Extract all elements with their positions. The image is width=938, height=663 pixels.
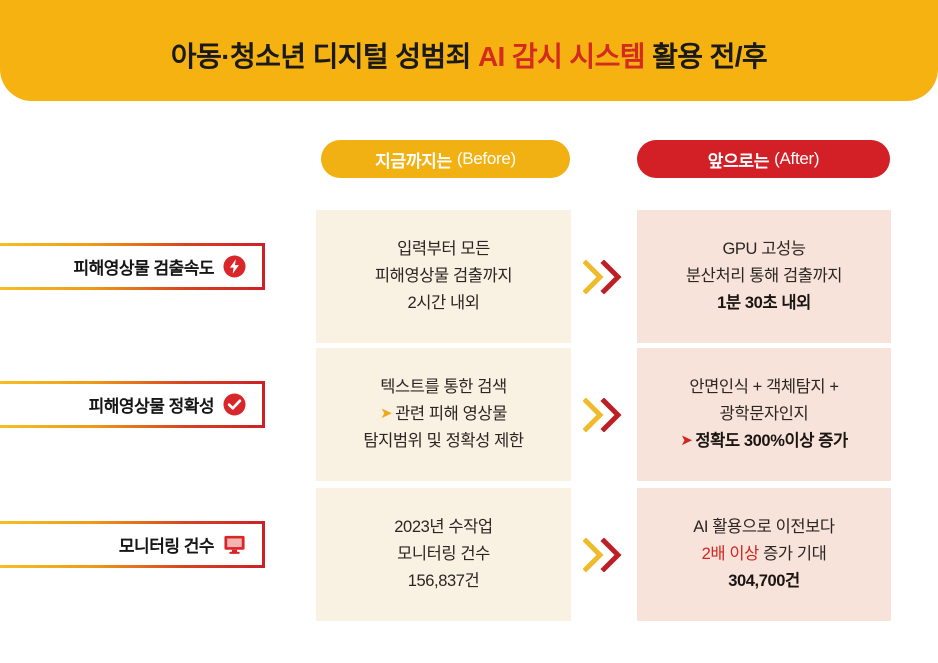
cell-line: 안면인식 + 객체탐지 + <box>689 374 838 401</box>
cell-before: 텍스트를 통한 검색 ➤관련 피해 영상물 탐지범위 및 정확성 제한 <box>316 348 571 481</box>
column-header-after-light: (After) <box>774 149 819 169</box>
cell-line: 텍스트를 통한 검색 <box>380 374 507 401</box>
cell-line: 탐지범위 및 정확성 제한 <box>363 428 523 455</box>
comparison-row: 피해영상물 검출속도 입력부터 모든 피해영상물 검출까지 2시간 내외 GPU… <box>0 210 938 343</box>
column-header-before-strong: 지금까지는 <box>375 147 452 172</box>
cell-line: 156,837건 <box>408 568 480 595</box>
cell-line-highlight: 1분 30초 내외 <box>717 290 811 317</box>
lightning-bolt-icon <box>223 255 246 278</box>
column-header-before-light: (Before) <box>457 149 516 169</box>
cell-before: 입력부터 모든 피해영상물 검출까지 2시간 내외 <box>316 210 571 343</box>
column-header-before: 지금까지는 (Before) <box>321 140 570 178</box>
cell-line-highlight: ➤정확도 300%이상 증가 <box>680 428 848 455</box>
cell-line-rest: 증가 기대 <box>759 545 827 563</box>
comparison-row: 모니터링 건수 2023년 수작업 모니터링 건수 156,837건 AI 활용… <box>0 488 938 621</box>
cell-before: 2023년 수작업 모니터링 건수 156,837건 <box>316 488 571 621</box>
cell-line-emphasis: 2배 이상 <box>702 545 759 563</box>
row-label-accuracy: 피해영상물 정확성 <box>0 381 265 428</box>
cell-line: GPU 고성능 <box>722 236 805 263</box>
chevron-divider <box>583 538 627 572</box>
page-title-accent: AI 감시 시스템 <box>478 41 645 72</box>
cell-line: 모니터링 건수 <box>397 541 490 568</box>
column-header-after: 앞으로는 (After) <box>637 140 890 178</box>
cell-line: 분산처리 통해 검출까지 <box>686 263 842 290</box>
cell-line: 광학문자인지 <box>720 401 809 428</box>
cell-line: 2시간 내외 <box>407 290 479 317</box>
header-banner: 아동·청소년 디지털 성범죄 AI 감시 시스템 활용 전/후 <box>0 0 938 101</box>
cell-line-highlight: 304,700건 <box>728 568 800 595</box>
row-label-text: 피해영상물 검출속도 <box>74 254 214 279</box>
page-title: 아동·청소년 디지털 성범죄 AI 감시 시스템 활용 전/후 <box>171 35 767 75</box>
row-label-monitoring-count: 모니터링 건수 <box>0 521 265 568</box>
chevron-divider <box>583 398 627 432</box>
cell-after: GPU 고성능 분산처리 통해 검출까지 1분 30초 내외 <box>637 210 891 343</box>
cell-line: 2배 이상 증가 기대 <box>702 541 827 568</box>
page-title-pre: 아동·청소년 디지털 성범죄 <box>171 41 478 72</box>
cell-line: AI 활용으로 이전보다 <box>693 514 834 541</box>
monitor-icon <box>223 533 246 556</box>
cell-after: 안면인식 + 객체탐지 + 광학문자인지 ➤정확도 300%이상 증가 <box>637 348 891 481</box>
page-title-post: 활용 전/후 <box>645 41 767 72</box>
cell-line: 피해영상물 검출까지 <box>375 263 512 290</box>
cell-line-arrow: ➤관련 피해 영상물 <box>380 401 507 428</box>
row-label-detection-speed: 피해영상물 검출속도 <box>0 243 265 290</box>
cell-line: 입력부터 모든 <box>397 236 490 263</box>
chevron-divider <box>583 260 627 294</box>
check-circle-icon <box>223 393 246 416</box>
cell-after: AI 활용으로 이전보다 2배 이상 증가 기대 304,700건 <box>637 488 891 621</box>
arrow-right-icon: ➤ <box>680 433 692 448</box>
column-header-after-strong: 앞으로는 <box>708 147 769 172</box>
row-label-text: 피해영상물 정확성 <box>89 392 214 417</box>
cell-line-arrow-text: 정확도 300%이상 증가 <box>695 432 847 450</box>
row-label-text: 모니터링 건수 <box>119 532 214 557</box>
arrow-right-icon: ➤ <box>380 406 392 421</box>
comparison-row: 피해영상물 정확성 텍스트를 통한 검색 ➤관련 피해 영상물 탐지범위 및 정… <box>0 348 938 481</box>
cell-line: 2023년 수작업 <box>394 514 492 541</box>
cell-line-arrow-text: 관련 피해 영상물 <box>395 405 507 423</box>
